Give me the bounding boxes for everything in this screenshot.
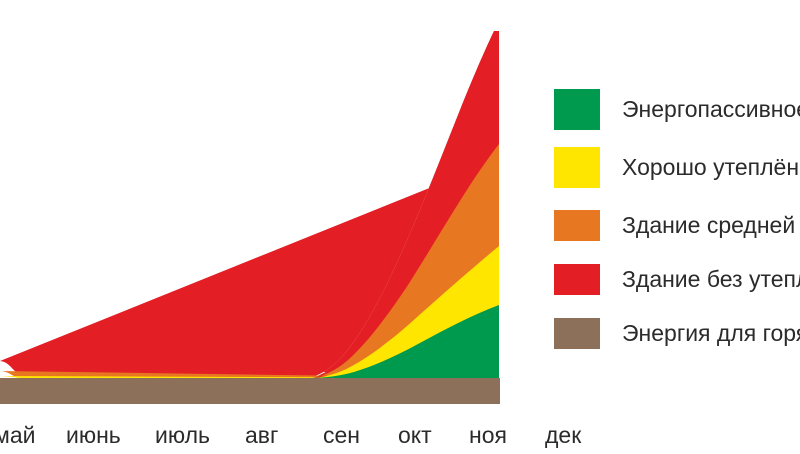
legend-swatch-yellow-icon <box>554 147 600 188</box>
legend-label-no-insulation: Здание без утепления <box>622 265 800 293</box>
legend-label-hot-water: Энергия для горячей воды <box>622 319 800 347</box>
x-tick-label-nov: ноя <box>469 420 507 450</box>
legend-swatch-orange-icon <box>554 210 600 241</box>
x-axis-labels: май июнь июль авг сен окт ноя дек <box>0 412 540 454</box>
legend-label-well-insulated: Хорошо утеплённое здание <box>622 153 800 181</box>
chart-plot-area <box>0 0 540 412</box>
legend-item-no-insulation[interactable]: Здание без утепления <box>548 254 800 304</box>
legend-item-medium-insulated[interactable]: Здание средней утеплённости <box>548 200 800 250</box>
area-series-brown-baseline <box>0 378 500 404</box>
x-tick-label-aug: авг <box>245 420 278 450</box>
legend-item-well-insulated[interactable]: Хорошо утеплённое здание <box>548 142 800 192</box>
legend-swatch-red-icon <box>554 264 600 295</box>
x-tick-label-jul: июль <box>155 420 210 450</box>
x-tick-label-may: май <box>0 420 35 450</box>
legend-swatch-brown-icon <box>554 318 600 349</box>
legend-item-passive-house[interactable]: Энергопассивное здание <box>548 84 800 134</box>
stacked-area-chart <box>0 0 540 412</box>
legend-label-passive-house: Энергопассивное здание <box>622 95 800 123</box>
legend-label-medium-insulated: Здание средней утеплённости <box>622 211 800 239</box>
legend-item-hot-water[interactable]: Энергия для горячей воды <box>548 308 800 358</box>
legend-swatch-green-icon <box>554 89 600 130</box>
chart-screenshot: май июнь июль авг сен окт ноя дек Энерго… <box>0 0 800 454</box>
x-tick-label-oct: окт <box>398 420 432 450</box>
x-tick-label-jun: июнь <box>66 420 121 450</box>
chart-legend: Энергопассивное здание Хорошо утеплённое… <box>548 84 800 344</box>
x-tick-label-dec: дек <box>545 420 581 450</box>
x-tick-label-sep: сен <box>323 420 360 450</box>
